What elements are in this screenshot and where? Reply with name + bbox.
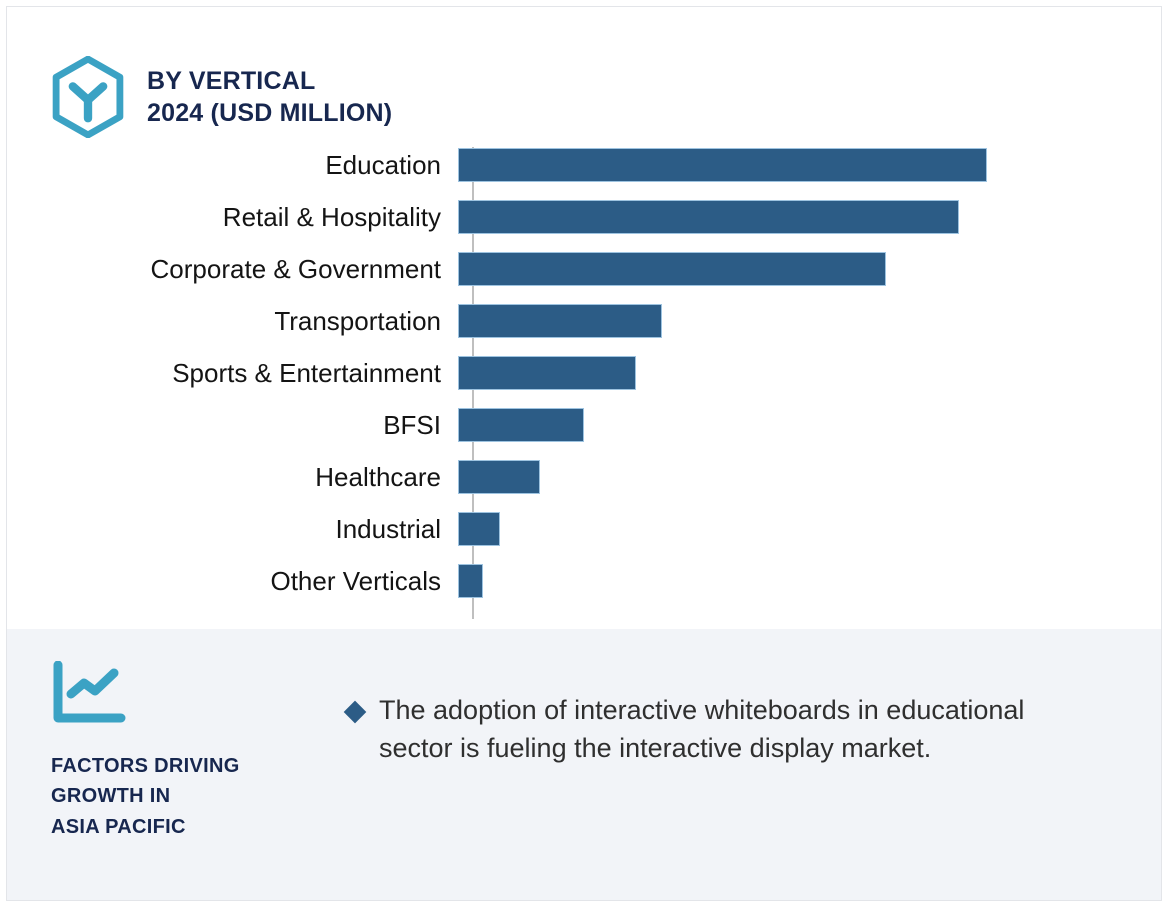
- chart-row: BFSI: [7, 399, 1161, 451]
- bar-track: [457, 243, 1161, 295]
- title-line-2: 2024 (USD MILLION): [147, 97, 392, 129]
- category-label: Industrial: [7, 514, 457, 545]
- category-label: Healthcare: [7, 462, 457, 493]
- factors-panel-right: The adoption of interactive whiteboards …: [347, 629, 1161, 900]
- factors-panel: FACTORS DRIVING GROWTH IN ASIA PACIFIC T…: [7, 629, 1161, 900]
- bar-track: [457, 503, 1161, 555]
- category-label: Education: [7, 150, 457, 181]
- bullet-text: The adoption of interactive whiteboards …: [379, 691, 1069, 768]
- bar-bfsi[interactable]: [458, 408, 584, 442]
- diamond-bullet-icon: [344, 701, 367, 724]
- bar-retail-hospitality[interactable]: [458, 200, 959, 234]
- bar-sports-entertainment[interactable]: [458, 356, 636, 390]
- bar-track: [457, 399, 1161, 451]
- chart-row: Industrial: [7, 503, 1161, 555]
- bar-transportation[interactable]: [458, 304, 662, 338]
- infographic-card: BY VERTICAL 2024 (USD MILLION) Education…: [6, 6, 1162, 901]
- chart-row: Transportation: [7, 295, 1161, 347]
- chart-row: Other Verticals: [7, 555, 1161, 607]
- bar-track: [457, 295, 1161, 347]
- bar-track: [457, 555, 1161, 607]
- bar-corporate-government[interactable]: [458, 252, 886, 286]
- chart-rows: Education Retail & Hospitality Corporate…: [7, 139, 1161, 607]
- chart-row: Education: [7, 139, 1161, 191]
- bar-industrial[interactable]: [458, 512, 500, 546]
- factors-heading-line-2: GROWTH IN: [51, 781, 347, 811]
- factors-heading: FACTORS DRIVING GROWTH IN ASIA PACIFIC: [51, 751, 347, 842]
- bar-track: [457, 347, 1161, 399]
- category-label: Sports & Entertainment: [7, 358, 457, 389]
- bar-education[interactable]: [458, 148, 987, 182]
- category-label: Other Verticals: [7, 566, 457, 597]
- category-label: BFSI: [7, 410, 457, 441]
- list-item: The adoption of interactive whiteboards …: [347, 691, 1091, 768]
- bar-healthcare[interactable]: [458, 460, 540, 494]
- bar-chart: Education Retail & Hospitality Corporate…: [7, 139, 1161, 625]
- line-chart-icon: [51, 661, 127, 725]
- bar-track: [457, 139, 1161, 191]
- chart-row: Sports & Entertainment: [7, 347, 1161, 399]
- factors-heading-line-3: ASIA PACIFIC: [51, 812, 347, 842]
- chart-row: Retail & Hospitality: [7, 191, 1161, 243]
- chart-row: Healthcare: [7, 451, 1161, 503]
- factors-heading-line-1: FACTORS DRIVING: [51, 751, 347, 781]
- title-line-1: BY VERTICAL: [147, 67, 315, 95]
- factors-panel-left: FACTORS DRIVING GROWTH IN ASIA PACIFIC: [7, 629, 347, 900]
- category-label: Transportation: [7, 306, 457, 337]
- chart-row: Corporate & Government: [7, 243, 1161, 295]
- bar-track: [457, 451, 1161, 503]
- category-label: Corporate & Government: [7, 254, 457, 285]
- bar-other-verticals[interactable]: [458, 564, 483, 598]
- hexagon-y-icon: [49, 56, 127, 138]
- category-label: Retail & Hospitality: [7, 202, 457, 233]
- bar-track: [457, 191, 1161, 243]
